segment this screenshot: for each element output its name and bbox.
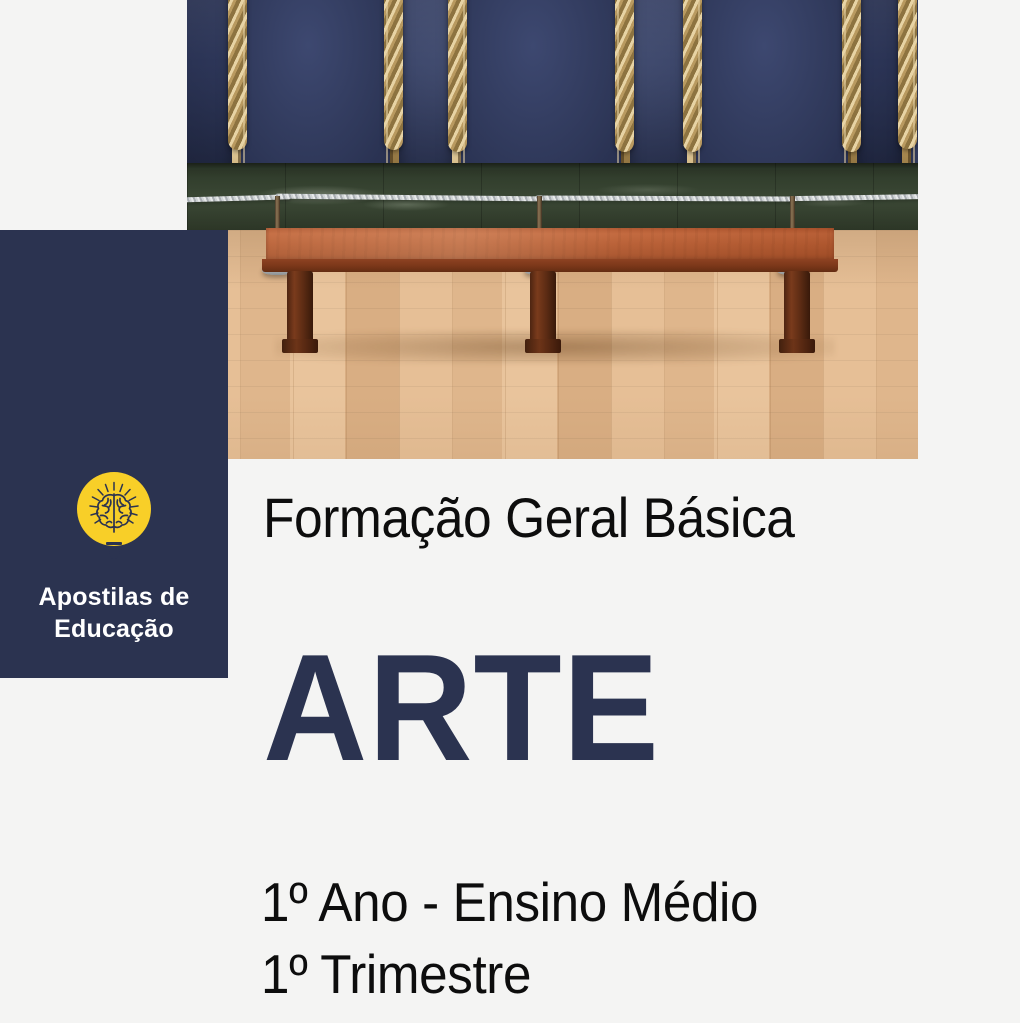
cover-title: ARTE [263, 632, 660, 784]
frame-ornament-right [384, 0, 403, 150]
bench-leg [287, 271, 313, 353]
frame-ornament-left [898, 0, 917, 149]
brand-name: Apostilas de Educação [0, 582, 228, 645]
frame-interior [696, 0, 848, 178]
barrier-rope [535, 196, 795, 202]
bench-foot [525, 339, 561, 353]
bench-leg [530, 271, 556, 353]
frame-ornament-left [683, 0, 702, 152]
cover-meta: 1º Ano - Ensino Médio 1º Trimestre [261, 867, 758, 1010]
frame-ornament-right [615, 0, 634, 152]
brand-name-line-1: Apostilas de [0, 582, 228, 614]
bench-seat-sheen [266, 228, 834, 261]
cover-page: Apostilas de Educação Formação Geral Bás… [0, 0, 1020, 1023]
frame-ornament-right [842, 0, 861, 152]
brain-rays-graphic [77, 472, 151, 546]
frame-interior [461, 0, 621, 178]
picture-frame [232, 0, 399, 185]
picture-frame [452, 0, 630, 187]
cover-subtitle: Formação Geral Básica [263, 485, 795, 550]
frame-ornament-left [448, 0, 467, 152]
bench-seat [266, 228, 834, 261]
brand-panel: Apostilas de Educação [0, 230, 228, 678]
grade-line: 1º Ano - Ensino Médio [261, 867, 758, 939]
bench-leg [784, 271, 810, 353]
cover-photo [187, 0, 918, 459]
picture-frame-partial [902, 0, 918, 184]
bench-foot [282, 339, 318, 353]
lightbulb-brain-icon [77, 472, 151, 560]
frame-interior [241, 0, 390, 176]
bench-foot [779, 339, 815, 353]
bulb-base-icon [106, 542, 122, 557]
picture-frame [687, 0, 857, 187]
term-line: 1º Trimestre [261, 939, 758, 1011]
frame-ornament-left [228, 0, 247, 150]
brand-name-line-2: Educação [0, 614, 228, 646]
